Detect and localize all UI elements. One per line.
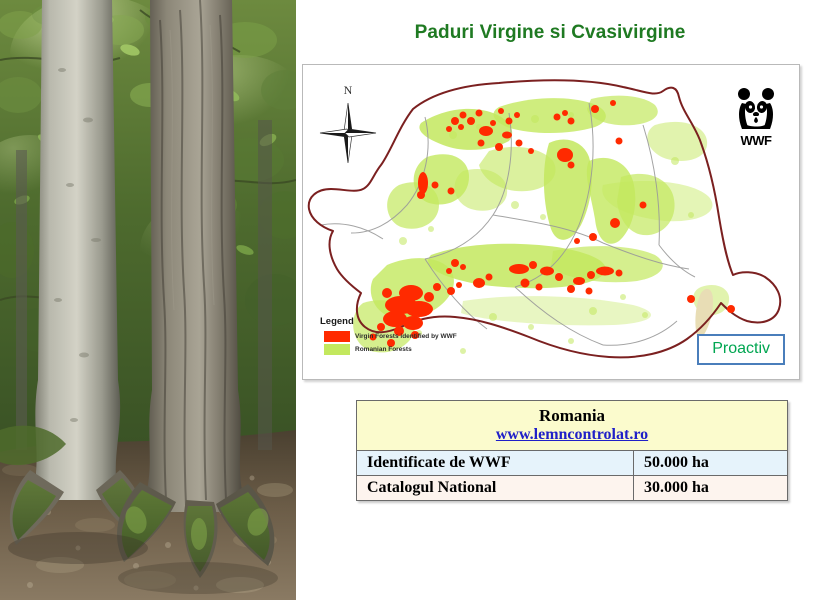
legend-label-romanian-forests: Romanian Forests: [355, 346, 412, 353]
wwf-logo-text: WWF: [725, 134, 787, 147]
table-header-cell: Romania www.lemncontrolat.ro: [357, 401, 788, 451]
map-panel: N: [302, 64, 800, 380]
forest-photo-graphic: [0, 0, 296, 600]
forest-area-table: Romania www.lemncontrolat.ro Identificat…: [356, 400, 788, 501]
page-title: Paduri Virgine si Cvasivirgine: [300, 22, 800, 44]
table-header-title: Romania: [363, 406, 781, 426]
map-legend: Legend Virgin Forests identified by WWF …: [320, 316, 520, 357]
compass-rose: N: [319, 83, 377, 165]
compass-rose-icon: [319, 101, 377, 165]
row-label-catalogul-national: Catalogul National: [357, 475, 634, 500]
row-label-identificate-wwf: Identificate de WWF: [357, 450, 634, 475]
legend-item-virgin-forests: Virgin Forests identified by WWF: [320, 331, 520, 342]
legend-title: Legend: [320, 316, 520, 327]
forest-photograph: [0, 0, 296, 600]
row-value-catalogul-national: 30.000 ha: [634, 475, 788, 500]
panda-icon: [733, 85, 779, 133]
compass-north-label: N: [319, 83, 377, 98]
legend-item-romanian-forests: Romanian Forests: [320, 344, 520, 355]
table-header-row: Romania www.lemncontrolat.ro: [357, 401, 788, 451]
table-row: Catalogul National 30.000 ha: [357, 475, 788, 500]
wwf-logo: WWF: [725, 85, 787, 151]
table-header-link[interactable]: www.lemncontrolat.ro: [363, 426, 781, 444]
beech-trunk-right: [140, 0, 248, 512]
presentation-slide: Paduri Virgine si Cvasivirgine: [0, 0, 815, 600]
legend-swatch-green: [324, 344, 350, 355]
proactiv-badge: Proactiv: [697, 334, 785, 365]
legend-label-virgin-forests: Virgin Forests identified by WWF: [355, 333, 457, 340]
beech-trunk-left: [30, 0, 120, 500]
table-row: Identificate de WWF 50.000 ha: [357, 450, 788, 475]
proactiv-badge-label: Proactiv: [712, 340, 770, 357]
legend-swatch-red: [324, 331, 350, 342]
row-value-identificate-wwf: 50.000 ha: [634, 450, 788, 475]
